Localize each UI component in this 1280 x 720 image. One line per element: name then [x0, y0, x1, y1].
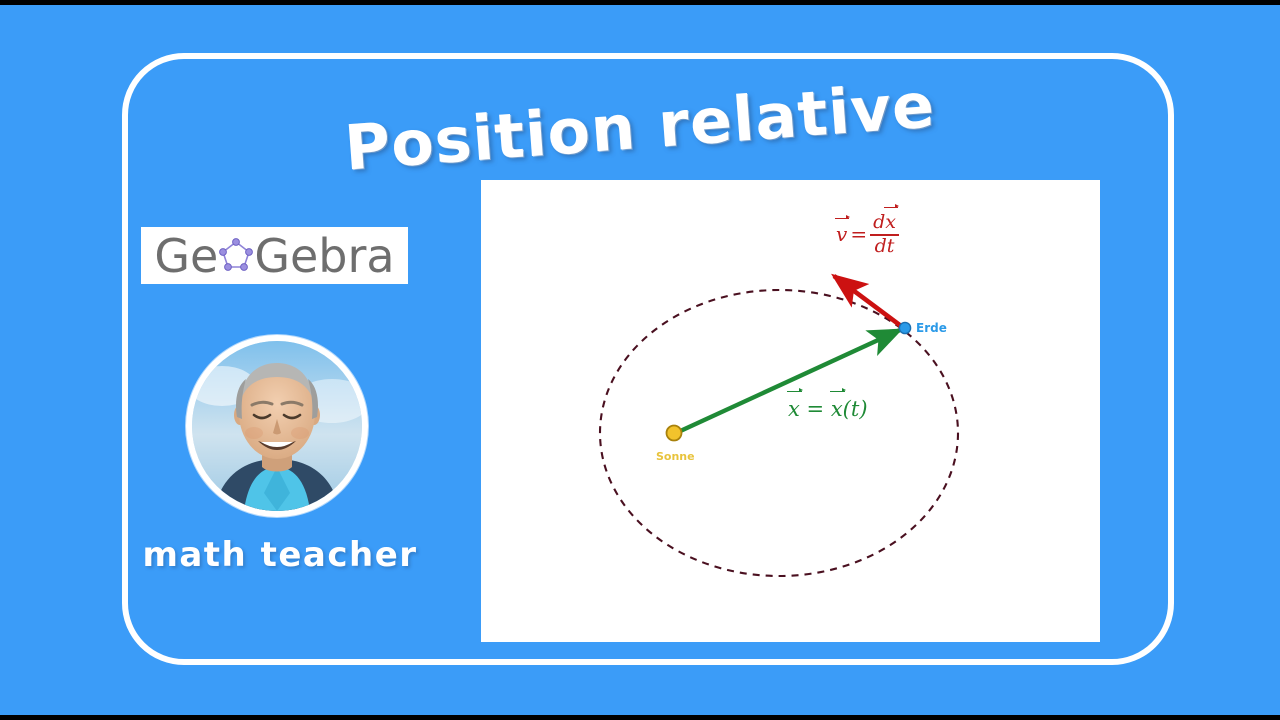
geogebra-logo-row: Ge Gebra — [154, 233, 394, 279]
velocity-formula-fraction: dx dt — [870, 213, 899, 257]
velocity-formula-lhs: v — [836, 224, 847, 245]
velocity-formula: v = dx dt — [836, 213, 899, 257]
position-formula-lhs: x — [788, 398, 800, 420]
velocity-vector — [834, 276, 905, 329]
avatar-portrait-illustration — [192, 341, 362, 511]
slide-canvas: Position relative Ge Gebra — [0, 0, 1280, 720]
geogebra-logo-text-ge: Ge — [154, 233, 218, 279]
velocity-formula-denominator: dt — [872, 236, 898, 257]
page-title-text: Position relative — [342, 68, 937, 184]
avatar — [186, 335, 368, 517]
earth-point[interactable] — [899, 322, 910, 333]
avatar-image — [192, 341, 362, 511]
sun-point-label: Sonne — [656, 450, 695, 463]
page-title: Position relative — [330, 83, 950, 169]
subtitle-math-teacher: math teacher — [130, 535, 430, 575]
letterbox-bottom — [0, 715, 1280, 720]
geogebra-logo-text-gebra: Gebra — [254, 233, 394, 279]
slide-background: Position relative Ge Gebra — [0, 5, 1280, 715]
position-formula-rhs: x(t) — [831, 397, 868, 421]
earth-point-label: Erde — [916, 321, 947, 335]
pentagon-icon — [216, 234, 256, 278]
velocity-formula-equals: = — [850, 224, 867, 245]
velocity-formula-numerator: dx — [870, 213, 899, 234]
position-formula: x = x(t) — [788, 398, 868, 420]
position-formula-equals: = — [807, 397, 825, 421]
letterbox-top — [0, 0, 1280, 5]
geogebra-logo: Ge Gebra — [141, 227, 408, 284]
sun-point[interactable] — [667, 426, 682, 441]
